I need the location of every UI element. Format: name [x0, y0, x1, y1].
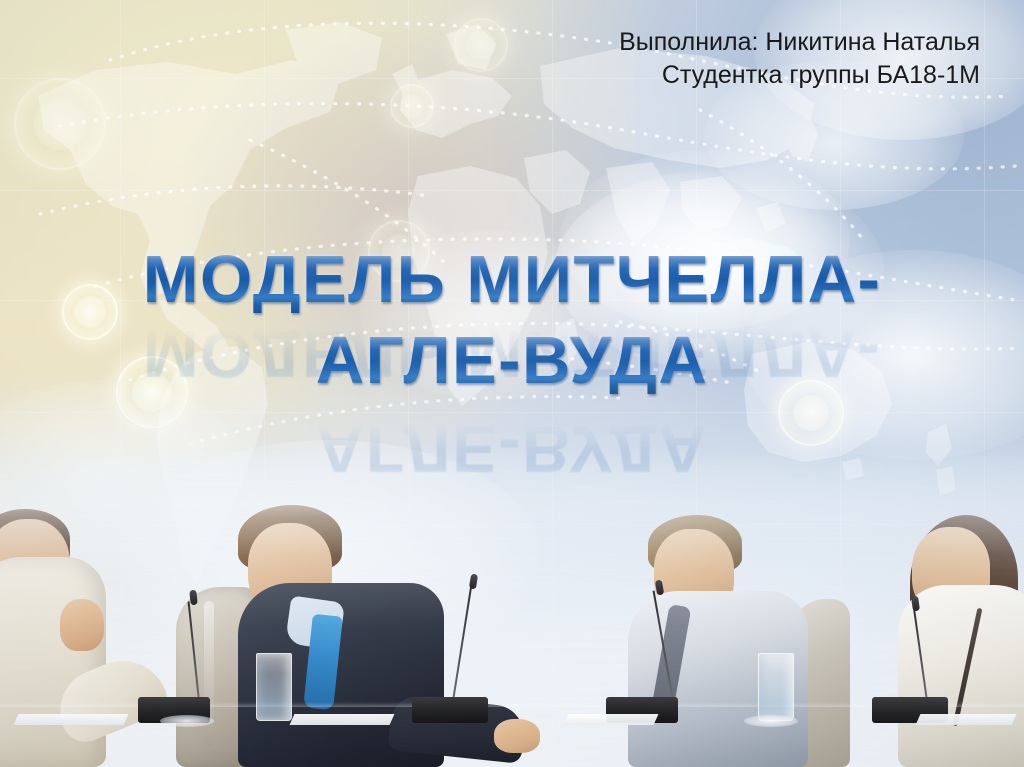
- coaster: [160, 715, 214, 727]
- author-credit: Выполнила: Никитина Наталья Студентка гр…: [619, 26, 980, 92]
- desk-console: [412, 697, 488, 723]
- presentation-slide: Модель Митчелла- Агле-Вуда Модель Митчел…: [0, 0, 1024, 767]
- water-glass: [758, 653, 794, 721]
- paper-sheet: [290, 714, 395, 725]
- author-name-line: Выполнила: Никитина Наталья: [619, 26, 980, 59]
- water-glass: [256, 653, 292, 721]
- conference-table-photo: [0, 447, 1024, 767]
- paper-sheet: [14, 714, 129, 725]
- paper-sheet: [916, 714, 1017, 725]
- fist: [60, 599, 104, 651]
- microphone-head-icon: [189, 590, 198, 606]
- coaster: [744, 715, 798, 727]
- microphone-stem: [452, 584, 472, 701]
- author-group-line: Студентка группы БА18-1М: [619, 59, 980, 92]
- microphone-head-icon: [469, 574, 478, 590]
- paper-sheet: [564, 714, 659, 725]
